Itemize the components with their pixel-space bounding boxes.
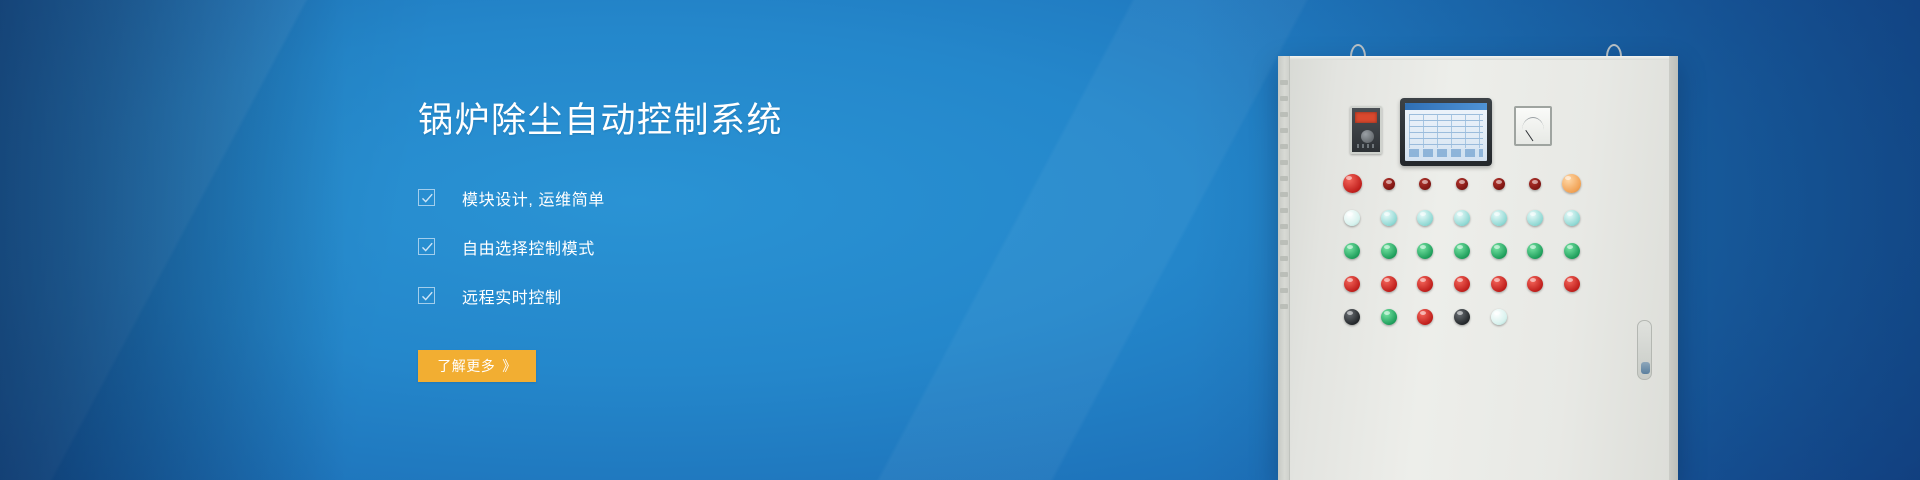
- indicator-lamp-white[interactable]: [1344, 210, 1360, 226]
- indicator-lamp-red[interactable]: [1454, 276, 1470, 292]
- hmi-touch-screen: [1400, 98, 1492, 166]
- lamp-cell[interactable]: [1553, 174, 1590, 193]
- lamp-cell[interactable]: [1480, 309, 1517, 325]
- indicator-lamp-darkred[interactable]: [1419, 178, 1431, 190]
- lamp-cell[interactable]: [1371, 276, 1408, 292]
- indicator-lamp-green[interactable]: [1564, 243, 1580, 259]
- list-item: 自由选择控制模式: [418, 230, 978, 263]
- indicator-lamp-red[interactable]: [1564, 276, 1580, 292]
- lamp-cell[interactable]: [1517, 210, 1554, 226]
- lamp-cell[interactable]: [1444, 243, 1481, 259]
- learn-more-button[interactable]: 了解更多 》: [418, 350, 536, 382]
- check-icon: [418, 189, 435, 206]
- indicator-lamp-red[interactable]: [1491, 276, 1507, 292]
- digital-controller-icon: [1350, 106, 1382, 154]
- lamp-cell[interactable]: [1444, 210, 1481, 226]
- indicator-lamp-teal[interactable]: [1491, 210, 1507, 226]
- indicator-lamp-green[interactable]: [1454, 243, 1470, 259]
- lamp-cell[interactable]: [1480, 243, 1517, 259]
- indicator-lamp-amber[interactable]: [1562, 174, 1581, 193]
- indicator-lamp-teal[interactable]: [1454, 210, 1470, 226]
- product-photo: [1160, 0, 1920, 480]
- indicator-lamp-red[interactable]: [1343, 174, 1362, 193]
- lamp-cell[interactable]: [1480, 210, 1517, 226]
- lamp-cell: [1553, 309, 1590, 325]
- lamp-cell[interactable]: [1407, 309, 1444, 325]
- indicator-lamp-darkred[interactable]: [1456, 178, 1468, 190]
- lamp-cell[interactable]: [1407, 276, 1444, 292]
- indicator-lamp-darkred[interactable]: [1529, 178, 1541, 190]
- indicator-lamp-green[interactable]: [1381, 309, 1397, 325]
- lamp-cell[interactable]: [1334, 309, 1371, 325]
- cabinet-hinge-strip: [1278, 56, 1290, 480]
- list-item: 模块设计, 运维简单: [418, 181, 978, 214]
- selector-switch-black[interactable]: [1344, 309, 1360, 325]
- indicator-lamp-teal[interactable]: [1564, 210, 1580, 226]
- check-icon: [418, 287, 435, 304]
- indicator-lamp-white[interactable]: [1491, 309, 1507, 325]
- indicator-lamp-green[interactable]: [1491, 243, 1507, 259]
- check-icon: [418, 238, 435, 255]
- lamp-cell[interactable]: [1371, 210, 1408, 226]
- lamp-cell[interactable]: [1517, 174, 1554, 193]
- feature-label: 模块设计, 运维简单: [462, 186, 605, 210]
- lamp-cell[interactable]: [1444, 174, 1481, 193]
- feature-label: 远程实时控制: [462, 284, 562, 308]
- lamp-cell[interactable]: [1334, 210, 1371, 226]
- chevron-right-icon: 》: [502, 359, 517, 373]
- indicator-lamp-red[interactable]: [1344, 276, 1360, 292]
- page-title: 锅炉除尘自动控制系统: [418, 98, 978, 144]
- lamp-cell[interactable]: [1553, 276, 1590, 292]
- lamp-cell[interactable]: [1407, 174, 1444, 193]
- control-cabinet: [1278, 56, 1678, 480]
- lamp-cell[interactable]: [1371, 243, 1408, 259]
- lamp-cell[interactable]: [1553, 243, 1590, 259]
- indicator-lamp-teal[interactable]: [1527, 210, 1543, 226]
- analog-gauge-icon: [1514, 106, 1552, 146]
- lamp-cell[interactable]: [1334, 276, 1371, 292]
- cabinet-right-edge: [1669, 56, 1678, 480]
- lamp-cell[interactable]: [1407, 210, 1444, 226]
- indicator-lamp-green[interactable]: [1344, 243, 1360, 259]
- lamp-cell: [1517, 309, 1554, 325]
- lamp-cell[interactable]: [1553, 210, 1590, 226]
- selector-switch-black[interactable]: [1454, 309, 1470, 325]
- lamp-cell[interactable]: [1517, 243, 1554, 259]
- indicator-lamp-red[interactable]: [1417, 276, 1433, 292]
- indicator-lamp-darkred[interactable]: [1493, 178, 1505, 190]
- indicator-lamp-green[interactable]: [1381, 243, 1397, 259]
- lamp-cell[interactable]: [1334, 174, 1371, 193]
- learn-more-label: 了解更多: [437, 356, 495, 376]
- lamp-cell[interactable]: [1517, 276, 1554, 292]
- indicator-lamp-teal[interactable]: [1381, 210, 1397, 226]
- door-handle[interactable]: [1637, 320, 1652, 380]
- indicator-lamp-teal[interactable]: [1417, 210, 1433, 226]
- feature-label: 自由选择控制模式: [462, 235, 595, 259]
- indicator-lamp-grid: [1334, 174, 1590, 325]
- lamp-cell[interactable]: [1371, 309, 1408, 325]
- hero-copy: 锅炉除尘自动控制系统 模块设计, 运维简单 自由选择控制模式: [418, 98, 978, 382]
- lamp-cell[interactable]: [1480, 276, 1517, 292]
- indicator-lamp-green[interactable]: [1527, 243, 1543, 259]
- indicator-lamp-green[interactable]: [1417, 243, 1433, 259]
- lamp-cell[interactable]: [1444, 276, 1481, 292]
- lamp-cell[interactable]: [1444, 309, 1481, 325]
- lamp-cell[interactable]: [1407, 243, 1444, 259]
- indicator-lamp-red[interactable]: [1417, 309, 1433, 325]
- indicator-lamp-red[interactable]: [1381, 276, 1397, 292]
- feature-list: 模块设计, 运维简单 自由选择控制模式 远程实时控制: [418, 181, 978, 312]
- lamp-cell[interactable]: [1480, 174, 1517, 193]
- lamp-cell[interactable]: [1334, 243, 1371, 259]
- indicator-lamp-darkred[interactable]: [1383, 178, 1395, 190]
- lamp-cell[interactable]: [1371, 174, 1408, 193]
- list-item: 远程实时控制: [418, 279, 978, 312]
- hero-banner: 锅炉除尘自动控制系统 模块设计, 运维简单 自由选择控制模式: [0, 0, 1920, 480]
- cabinet-top-edge: [1278, 56, 1678, 60]
- indicator-lamp-red[interactable]: [1527, 276, 1543, 292]
